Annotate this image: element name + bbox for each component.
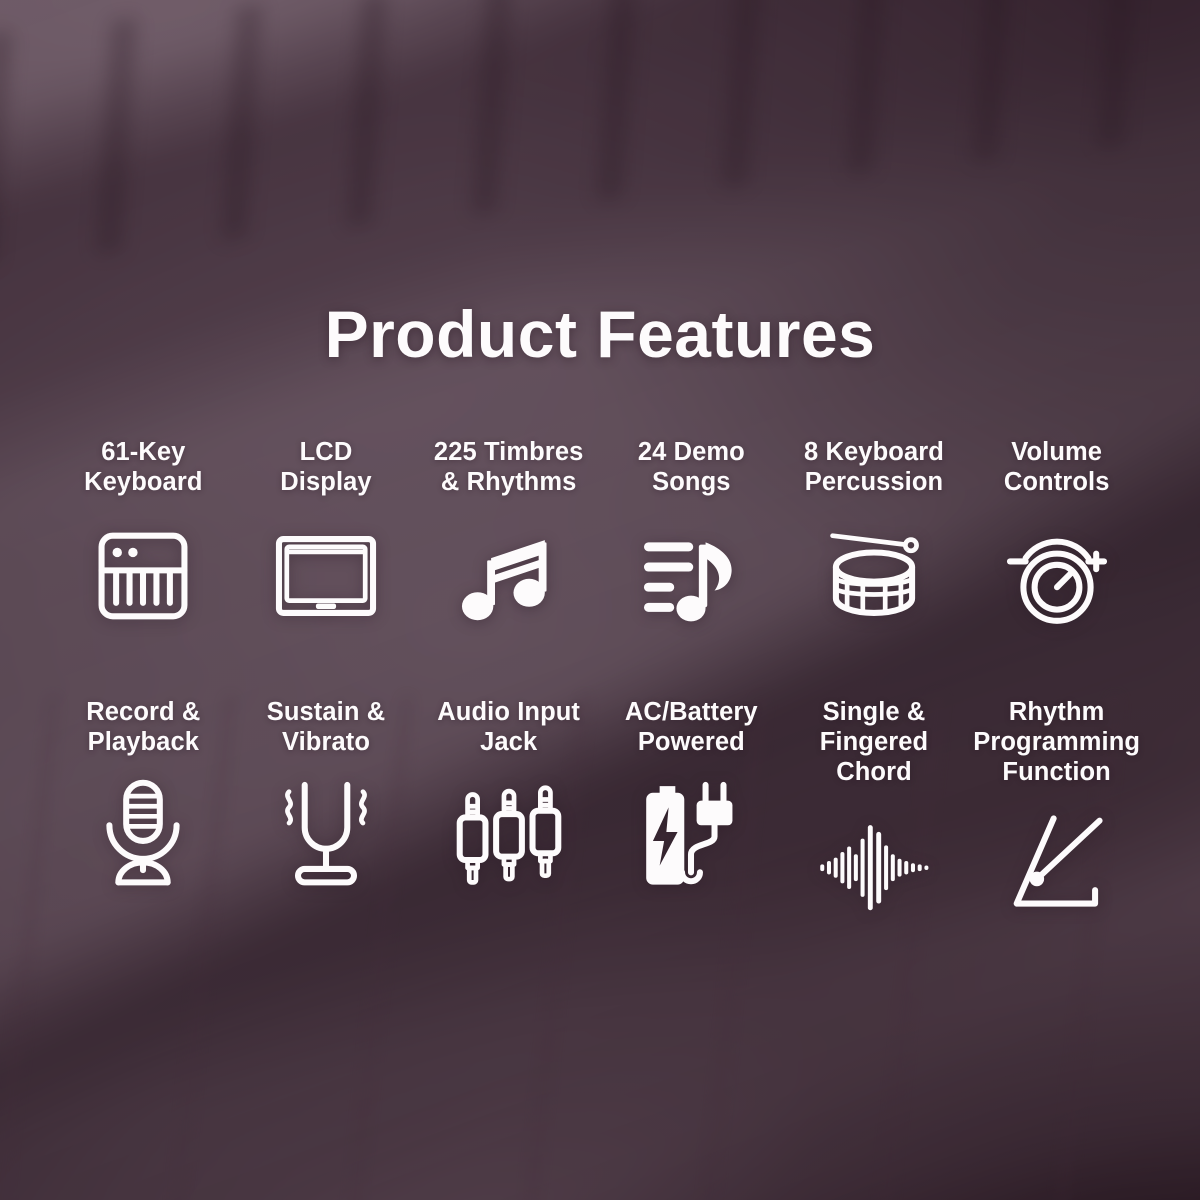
beamed-music-notes-icon (449, 520, 569, 632)
feature-item-volume-controls: Volume Controls (965, 438, 1148, 632)
feature-item-record-playback: Record & Playback (52, 698, 235, 917)
feature-grid-row-2: Record & Playback Sustain & Vibrato (52, 698, 1148, 917)
keyboard-icon (83, 520, 203, 632)
feature-item-24-demo-songs: 24 Demo Songs (600, 438, 783, 632)
battery-power-plug-icon (631, 776, 751, 888)
tuning-fork-vibration-icon (266, 776, 386, 888)
feature-item-audio-input-jack: Audio Input Jack (417, 698, 600, 917)
feature-label: Sustain & Vibrato (267, 698, 386, 758)
snare-drum-icon (814, 520, 934, 632)
feature-label: 24 Demo Songs (638, 438, 745, 498)
feature-label: Volume Controls (1004, 438, 1110, 498)
playlist-music-note-icon (631, 520, 751, 632)
feature-item-rhythm-programming-function: Rhythm Programming Function (965, 698, 1148, 917)
feature-item-225-timbres-rhythms: 225 Timbres & Rhythms (417, 438, 600, 632)
audio-waveform-icon (814, 805, 934, 917)
feature-item-61-key-keyboard: 61-Key Keyboard (52, 438, 235, 632)
feature-label: LCD Display (280, 438, 371, 498)
feature-label: 225 Timbres & Rhythms (434, 438, 583, 498)
audio-jack-plugs-icon (449, 776, 569, 888)
feature-label: 61-Key Keyboard (84, 438, 202, 498)
page-title: Product Features (0, 296, 1200, 372)
metronome-icon (997, 805, 1117, 917)
microphone-icon (83, 776, 203, 888)
feature-item-sustain-vibrato: Sustain & Vibrato (235, 698, 418, 917)
feature-label: Single & Fingered Chord (820, 698, 928, 787)
feature-label: 8 Keyboard Percussion (804, 438, 944, 498)
feature-item-ac-battery-powered: AC/Battery Powered (600, 698, 783, 917)
feature-item-8-keyboard-percussion: 8 Keyboard Percussion (783, 438, 966, 632)
feature-label: Audio Input Jack (437, 698, 580, 758)
feature-label: AC/Battery Powered (625, 698, 758, 758)
feature-grid-row-1: 61-Key Keyboard LCD Display (52, 438, 1148, 632)
feature-label: Rhythm Programming Function (973, 698, 1140, 787)
feature-label: Record & Playback (86, 698, 200, 758)
feature-item-lcd-display: LCD Display (235, 438, 418, 632)
lcd-display-icon (266, 520, 386, 632)
feature-item-single-fingered-chord: Single & Fingered Chord (783, 698, 966, 917)
volume-knob-icon (997, 520, 1117, 632)
